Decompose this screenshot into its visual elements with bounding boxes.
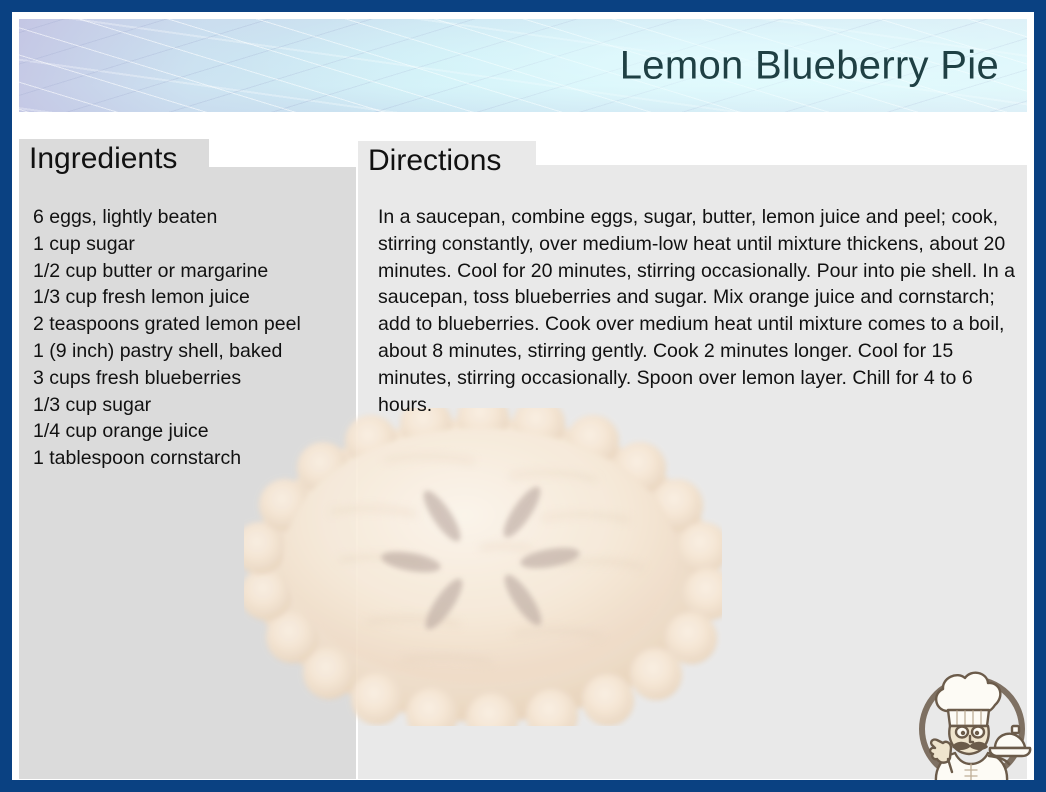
list-item: 1 tablespoon cornstarch	[33, 445, 353, 472]
list-item: 6 eggs, lightly beaten	[33, 204, 353, 231]
list-item: 1/3 cup sugar	[33, 392, 353, 419]
list-item: 1/3 cup fresh lemon juice	[33, 284, 353, 311]
directions-body-text: In a saucepan, combine eggs, sugar, butt…	[378, 204, 1030, 418]
page-title: Lemon Blueberry Pie	[620, 43, 999, 88]
list-item: 1/4 cup orange juice	[33, 418, 353, 445]
recipe-card-inner-frame: Lemon Blueberry Pie Ingredients Directio…	[12, 12, 1034, 780]
list-item: 2 teaspoons grated lemon peel	[33, 311, 353, 338]
list-item: 1 cup sugar	[33, 231, 353, 258]
recipe-card: Lemon Blueberry Pie Ingredients Directio…	[0, 0, 1046, 792]
section-header-ingredients: Ingredients	[19, 139, 209, 181]
list-item: 3 cups fresh blueberries	[33, 365, 353, 392]
list-item: 1/2 cup butter or margarine	[33, 258, 353, 285]
list-item: 1 (9 inch) pastry shell, baked	[33, 338, 353, 365]
recipe-header-banner: Lemon Blueberry Pie	[19, 19, 1027, 112]
ingredient-list: 6 eggs, lightly beaten 1 cup sugar 1/2 c…	[33, 204, 353, 472]
section-header-directions: Directions	[358, 141, 536, 183]
